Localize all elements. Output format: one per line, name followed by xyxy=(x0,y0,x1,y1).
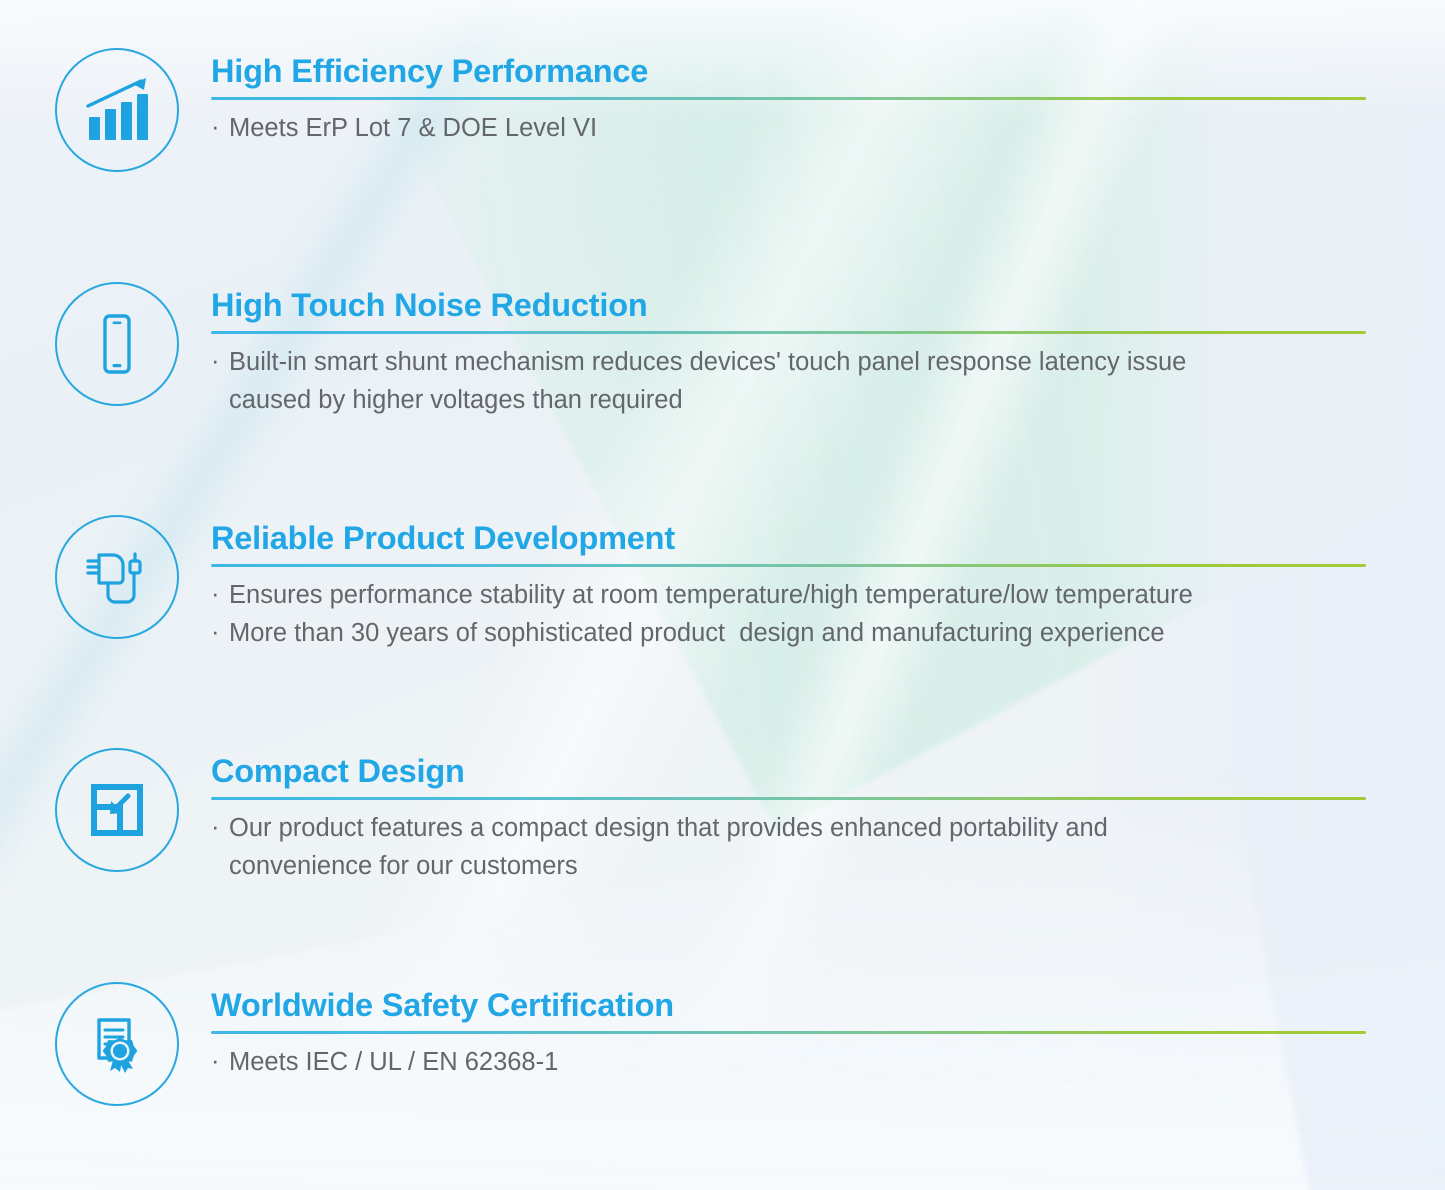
bar-chart-growth-icon xyxy=(55,48,179,172)
feature-title: Compact Design xyxy=(211,752,1366,790)
feature-bullet: Built-in smart shunt mechanism reduces d… xyxy=(211,343,1366,381)
feature-title: Reliable Product Development xyxy=(211,519,1366,557)
feature-body: High Efficiency Performance Meets ErP Lo… xyxy=(211,52,1366,147)
feature-body: Worldwide Safety Certification Meets IEC… xyxy=(211,986,1366,1081)
feature-bullet-continued: caused by higher voltages than required xyxy=(211,381,1366,419)
feature-bullet: Ensures performance stability at room te… xyxy=(211,576,1366,614)
feature-title: High Efficiency Performance xyxy=(211,52,1366,90)
feature-divider xyxy=(211,331,1366,334)
feature-title: High Touch Noise Reduction xyxy=(211,286,1366,324)
feature-bullet: Meets ErP Lot 7 & DOE Level VI xyxy=(211,109,1366,147)
feature-bullet-list: Meets IEC / UL / EN 62368-1 xyxy=(211,1043,1366,1081)
feature-divider xyxy=(211,97,1366,100)
certificate-award-icon xyxy=(55,982,179,1106)
feature-bullet: More than 30 years of sophisticated prod… xyxy=(211,614,1366,652)
feature-highlights-page: High Efficiency Performance Meets ErP Lo… xyxy=(0,0,1445,1190)
feature-bullet-list: Built-in smart shunt mechanism reduces d… xyxy=(211,343,1366,419)
feature-bullet-list: Ensures performance stability at room te… xyxy=(211,576,1366,652)
feature-body: High Touch Noise Reduction Built-in smar… xyxy=(211,286,1366,419)
feature-divider xyxy=(211,797,1366,800)
power-adapter-icon xyxy=(55,515,179,639)
feature-bullet-continued: convenience for our customers xyxy=(211,847,1366,885)
feature-bullet-list: Our product features a compact design th… xyxy=(211,809,1366,885)
resize-compact-icon xyxy=(55,748,179,872)
feature-bullet-list: Meets ErP Lot 7 & DOE Level VI xyxy=(211,109,1366,147)
feature-body: Compact Design Our product features a co… xyxy=(211,752,1366,885)
feature-body: Reliable Product Development Ensures per… xyxy=(211,519,1366,652)
feature-list: High Efficiency Performance Meets ErP Lo… xyxy=(0,0,1445,1190)
smartphone-icon xyxy=(55,282,179,406)
feature-bullet: Our product features a compact design th… xyxy=(211,809,1366,847)
feature-divider xyxy=(211,1031,1366,1034)
feature-divider xyxy=(211,564,1366,567)
feature-bullet: Meets IEC / UL / EN 62368-1 xyxy=(211,1043,1366,1081)
feature-title: Worldwide Safety Certification xyxy=(211,986,1366,1024)
